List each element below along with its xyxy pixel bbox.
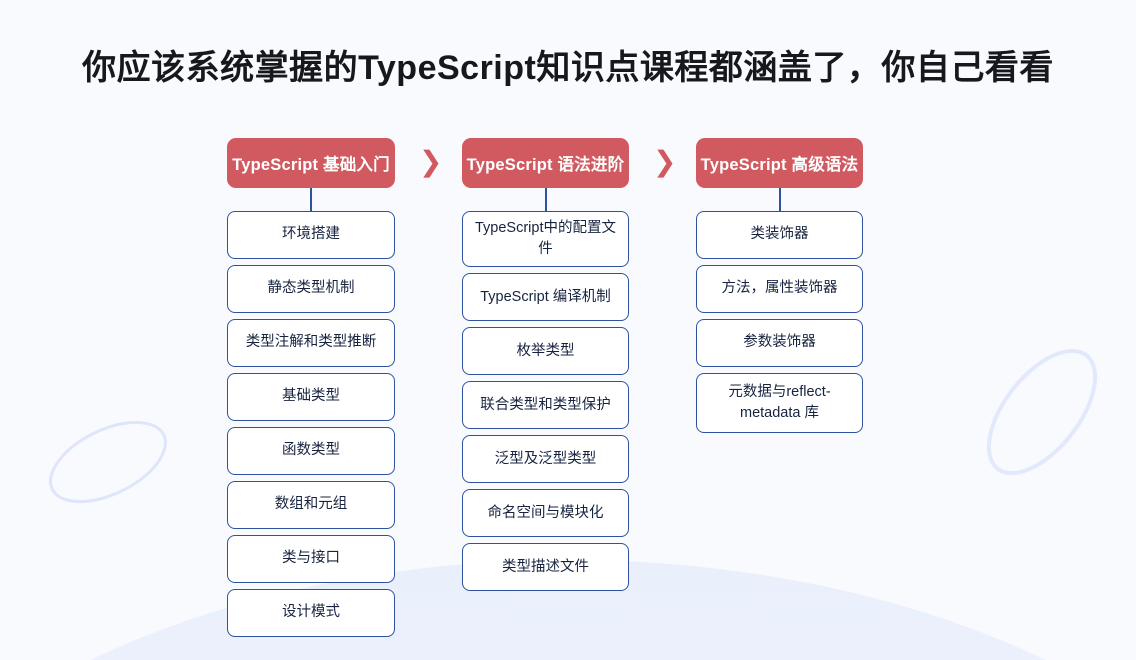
chevron-right-icon: ❯ <box>653 148 676 176</box>
topic-card[interactable]: 参数装饰器 <box>696 319 863 367</box>
column-header-intermediate[interactable]: TypeScript 语法进阶 <box>462 138 629 188</box>
topic-card[interactable]: 类型描述文件 <box>462 543 629 591</box>
topic-card[interactable]: 命名空间与模块化 <box>462 489 629 537</box>
topic-card[interactable]: 方法，属性装饰器 <box>696 265 863 313</box>
connector-line <box>779 188 781 211</box>
topic-card[interactable]: 基础类型 <box>227 373 395 421</box>
topic-card[interactable]: 类型注解和类型推断 <box>227 319 395 367</box>
topic-card[interactable]: 环境搭建 <box>227 211 395 259</box>
roadmap-column-advanced: TypeScript 高级语法 类装饰器 方法，属性装饰器 参数装饰器 元数据与… <box>696 138 863 439</box>
topic-card[interactable]: 类与接口 <box>227 535 395 583</box>
topic-card[interactable]: 联合类型和类型保护 <box>462 381 629 429</box>
topic-card[interactable]: 元数据与reflect-metadata 库 <box>696 373 863 433</box>
topic-card[interactable]: TypeScript中的配置文件 <box>462 211 629 267</box>
page-title: 你应该系统掌握的TypeScript知识点课程都涵盖了，你自己看看 <box>0 40 1136 89</box>
topic-card[interactable]: 泛型及泛型类型 <box>462 435 629 483</box>
column-header-basics[interactable]: TypeScript 基础入门 <box>227 138 395 188</box>
topic-card[interactable]: 静态类型机制 <box>227 265 395 313</box>
topic-card[interactable]: 类装饰器 <box>696 211 863 259</box>
topic-card[interactable]: 函数类型 <box>227 427 395 475</box>
chevron-right-icon: ❯ <box>419 148 442 176</box>
roadmap-column-intermediate: TypeScript 语法进阶 TypeScript中的配置文件 TypeScr… <box>462 138 629 597</box>
roadmap-column-basics: TypeScript 基础入门 环境搭建 静态类型机制 类型注解和类型推断 基础… <box>227 138 395 643</box>
connector-line <box>545 188 547 211</box>
topic-card[interactable]: 枚举类型 <box>462 327 629 375</box>
topic-card[interactable]: 数组和元组 <box>227 481 395 529</box>
column-header-advanced[interactable]: TypeScript 高级语法 <box>696 138 863 188</box>
connector-line <box>310 188 312 211</box>
topic-card[interactable]: TypeScript 编译机制 <box>462 273 629 321</box>
topic-card[interactable]: 设计模式 <box>227 589 395 637</box>
roadmap-flow: TypeScript 基础入门 环境搭建 静态类型机制 类型注解和类型推断 基础… <box>0 138 1136 658</box>
